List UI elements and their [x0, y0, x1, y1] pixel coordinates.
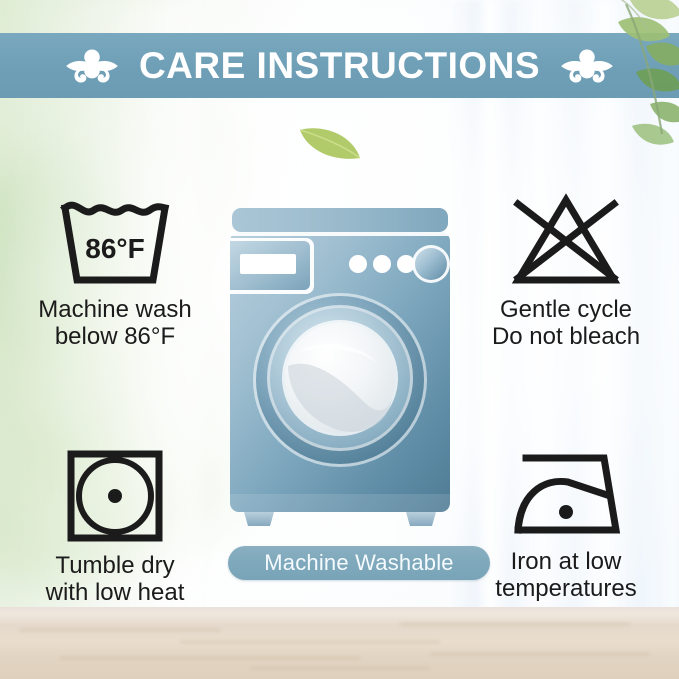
wash-tub-icon: 86°F	[6, 196, 224, 288]
caption-tumble-dry-line1: Tumble dry	[6, 552, 224, 579]
wash-temperature-value: 86°F	[85, 233, 144, 264]
washing-machine-illustration	[228, 206, 452, 536]
machine-washable-badge-label: Machine Washable	[264, 552, 453, 574]
page-title: CARE INSTRUCTIONS	[139, 47, 540, 84]
floating-leaf-icon	[296, 120, 366, 169]
header-banner: CARE INSTRUCTIONS	[0, 33, 679, 98]
caption-do-not-bleach-line2: Do not bleach	[458, 323, 674, 350]
symbol-do-not-bleach: Gentle cycle Do not bleach	[458, 192, 674, 351]
wooden-table-surface	[0, 607, 679, 679]
care-instructions-infographic: CARE INSTRUCTIONS	[0, 0, 679, 679]
fleur-de-lis-ornament-right-icon	[556, 44, 618, 88]
fleur-de-lis-ornament-left-icon	[61, 44, 123, 88]
symbol-machine-wash: 86°F Machine wash below 86°F	[6, 196, 224, 351]
caption-machine-wash-line1: Machine wash	[6, 296, 224, 323]
iron-one-dot-icon	[458, 452, 674, 540]
tumble-dry-square-icon	[6, 448, 224, 544]
symbol-iron-low: Iron at low temperatures	[458, 452, 674, 603]
machine-washable-badge: Machine Washable	[228, 546, 490, 580]
caption-iron-low-line1: Iron at low	[458, 548, 674, 575]
caption-tumble-dry-line2: with low heat	[6, 579, 224, 606]
caption-machine-wash-line2: below 86°F	[6, 323, 224, 350]
triangle-crossed-out-icon	[458, 192, 674, 288]
caption-iron-low-line2: temperatures	[458, 575, 674, 602]
symbol-tumble-dry: Tumble dry with low heat	[6, 448, 224, 607]
caption-do-not-bleach-line1: Gentle cycle	[458, 296, 674, 323]
